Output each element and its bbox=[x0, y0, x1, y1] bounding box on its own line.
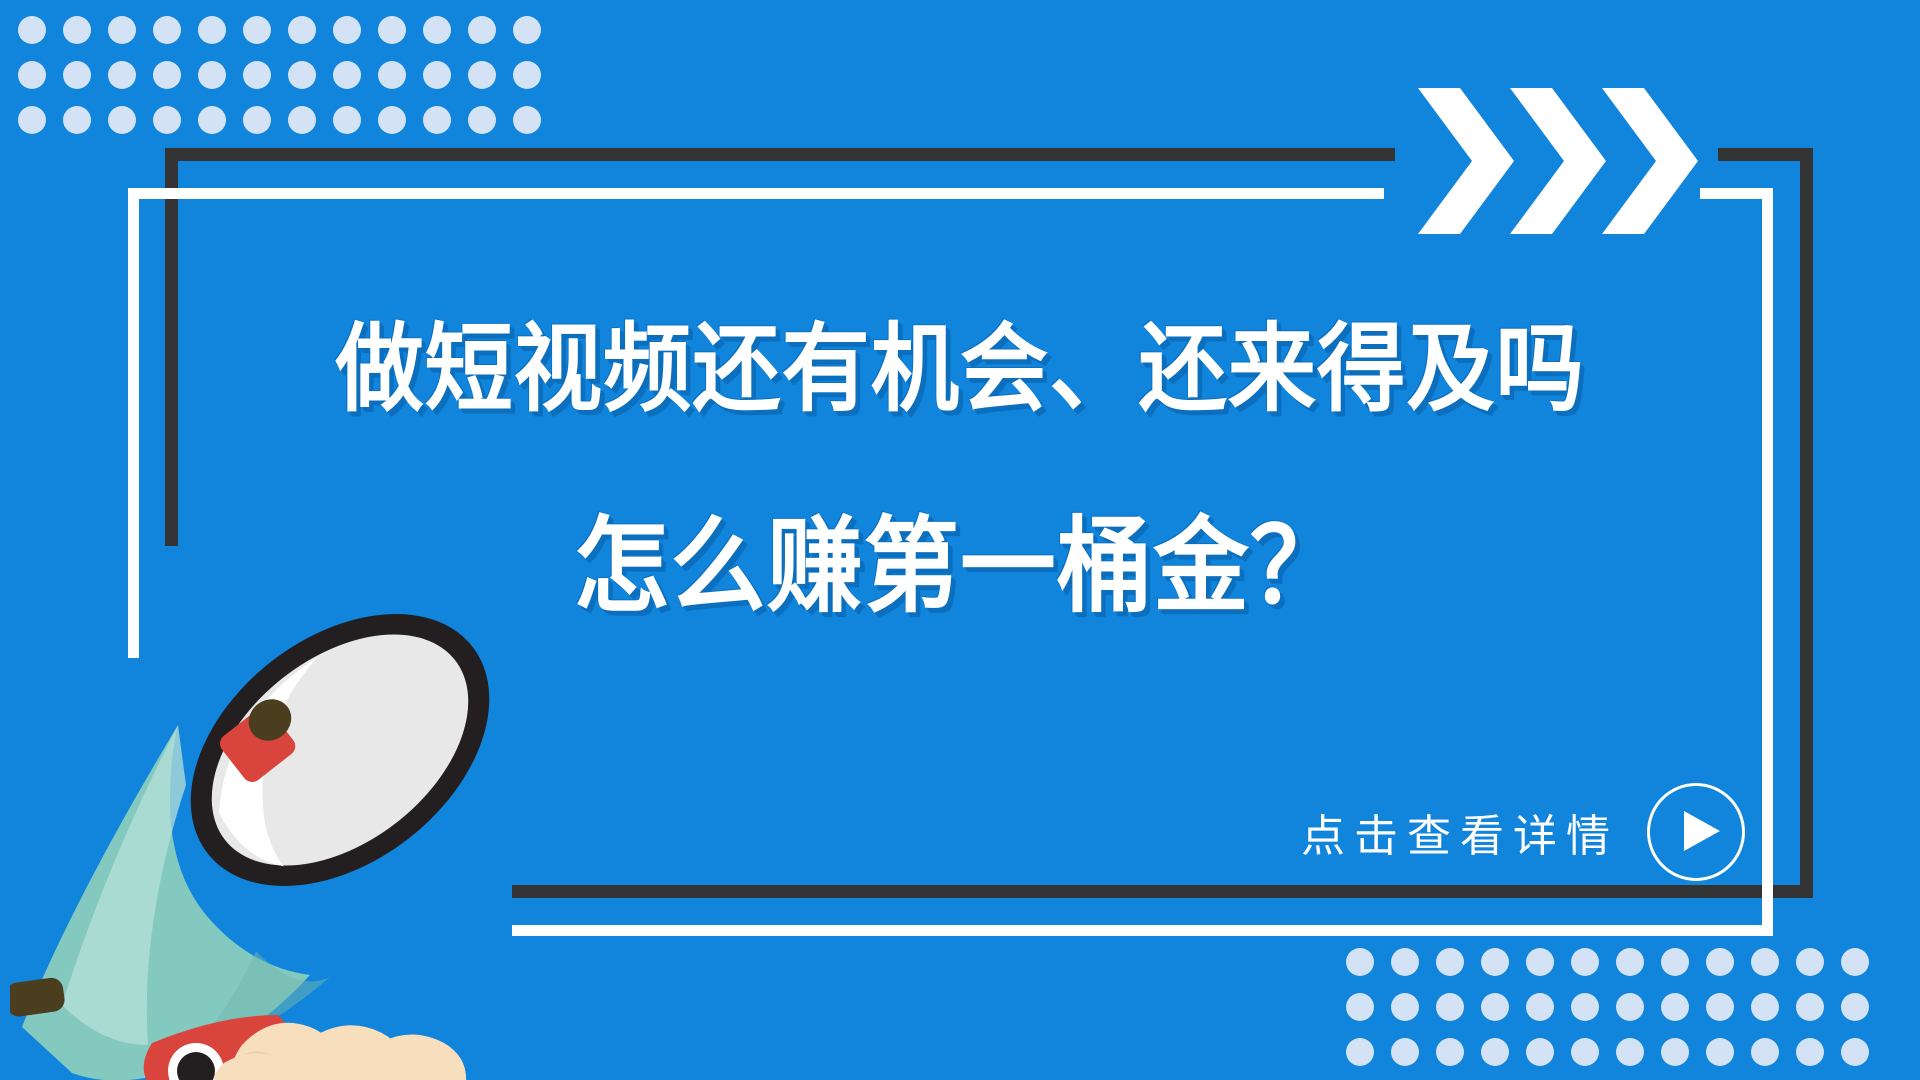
dot bbox=[1346, 1038, 1374, 1066]
dot bbox=[1841, 1038, 1869, 1066]
dot bbox=[18, 106, 46, 134]
dot bbox=[423, 106, 451, 134]
dot bbox=[1751, 1038, 1779, 1066]
play-icon bbox=[1684, 811, 1720, 851]
dot bbox=[1346, 948, 1374, 976]
dot bbox=[1706, 948, 1734, 976]
dot bbox=[1571, 948, 1599, 976]
dot bbox=[153, 106, 181, 134]
dot bbox=[513, 106, 541, 134]
dot bbox=[1616, 1038, 1644, 1066]
frame-dark-right-edge bbox=[1800, 148, 1813, 898]
dot bbox=[378, 106, 406, 134]
dot bbox=[513, 16, 541, 44]
dot bbox=[468, 61, 496, 89]
dot bbox=[1391, 993, 1419, 1021]
poster-canvas: 做短视频还有机会、还来得及吗 怎么赚第一桶金？ 点击查看详情 bbox=[0, 0, 1920, 1080]
dot bbox=[108, 106, 136, 134]
chevron-right-icon-group bbox=[1418, 88, 1718, 234]
dot bbox=[18, 61, 46, 89]
dot bbox=[288, 106, 316, 134]
dot bbox=[1661, 993, 1689, 1021]
dot bbox=[468, 16, 496, 44]
dot bbox=[1751, 948, 1779, 976]
dot bbox=[1706, 1038, 1734, 1066]
dot bbox=[63, 61, 91, 89]
dot bbox=[1481, 1038, 1509, 1066]
cta-row[interactable]: 点击查看详情 bbox=[1301, 783, 1745, 881]
dot bbox=[1391, 1038, 1419, 1066]
frame-light-top-edge bbox=[128, 188, 1384, 199]
dot bbox=[378, 16, 406, 44]
frame-light-bottom-edge bbox=[512, 925, 1773, 936]
dot bbox=[198, 106, 226, 134]
dot bbox=[1571, 993, 1599, 1021]
dot bbox=[243, 106, 271, 134]
cta-label: 点击查看详情 bbox=[1301, 800, 1619, 864]
dot bbox=[288, 61, 316, 89]
dot bbox=[1346, 993, 1374, 1021]
dot bbox=[1796, 1038, 1824, 1066]
dot bbox=[1751, 993, 1779, 1021]
dot bbox=[63, 106, 91, 134]
dot bbox=[333, 106, 361, 134]
dot bbox=[333, 61, 361, 89]
dot bbox=[243, 16, 271, 44]
dot bbox=[198, 61, 226, 89]
dot bbox=[108, 61, 136, 89]
dot bbox=[1526, 948, 1554, 976]
dot bbox=[423, 61, 451, 89]
dot bbox=[1436, 1038, 1464, 1066]
dot bbox=[1571, 1038, 1599, 1066]
frame-dark-bottom-edge bbox=[512, 885, 1813, 898]
dot bbox=[423, 16, 451, 44]
dot bbox=[378, 61, 406, 89]
chevron-right-icon bbox=[1602, 88, 1698, 234]
frame-dark-top-edge bbox=[165, 148, 1395, 161]
frame-dark-left-edge bbox=[165, 148, 178, 546]
dot bbox=[1616, 948, 1644, 976]
dot bbox=[1436, 993, 1464, 1021]
dot bbox=[1436, 948, 1464, 976]
dot bbox=[1526, 1038, 1554, 1066]
dot bbox=[1526, 993, 1554, 1021]
dot bbox=[1796, 993, 1824, 1021]
dot bbox=[333, 16, 361, 44]
dot bbox=[153, 16, 181, 44]
dot bbox=[1661, 948, 1689, 976]
dot bbox=[288, 16, 316, 44]
dot bbox=[513, 61, 541, 89]
dot bbox=[1481, 993, 1509, 1021]
finger-3 bbox=[369, 1034, 466, 1080]
dot bbox=[1391, 948, 1419, 976]
dot-grid-top-left bbox=[18, 16, 541, 134]
dot bbox=[1481, 948, 1509, 976]
dot bbox=[468, 106, 496, 134]
dot bbox=[18, 16, 46, 44]
play-button[interactable] bbox=[1647, 783, 1745, 881]
dot bbox=[1796, 948, 1824, 976]
dot bbox=[198, 16, 226, 44]
dot-grid-bottom-right bbox=[1346, 948, 1869, 1066]
dot bbox=[1841, 948, 1869, 976]
chevron-right-icon bbox=[1418, 88, 1514, 234]
headline-line-1: 做短视频还有机会、还来得及吗 bbox=[77, 320, 1843, 421]
dot bbox=[1661, 1038, 1689, 1066]
dot bbox=[63, 16, 91, 44]
frame-dark-top-right-edge bbox=[1718, 148, 1813, 161]
dot bbox=[243, 61, 271, 89]
megaphone-illustration bbox=[10, 575, 510, 1080]
frame-light-right-edge bbox=[1762, 188, 1773, 936]
dot bbox=[108, 16, 136, 44]
chevron-right-icon bbox=[1510, 88, 1606, 234]
dot bbox=[1841, 993, 1869, 1021]
dot bbox=[1706, 993, 1734, 1021]
dot bbox=[153, 61, 181, 89]
dot bbox=[1616, 993, 1644, 1021]
